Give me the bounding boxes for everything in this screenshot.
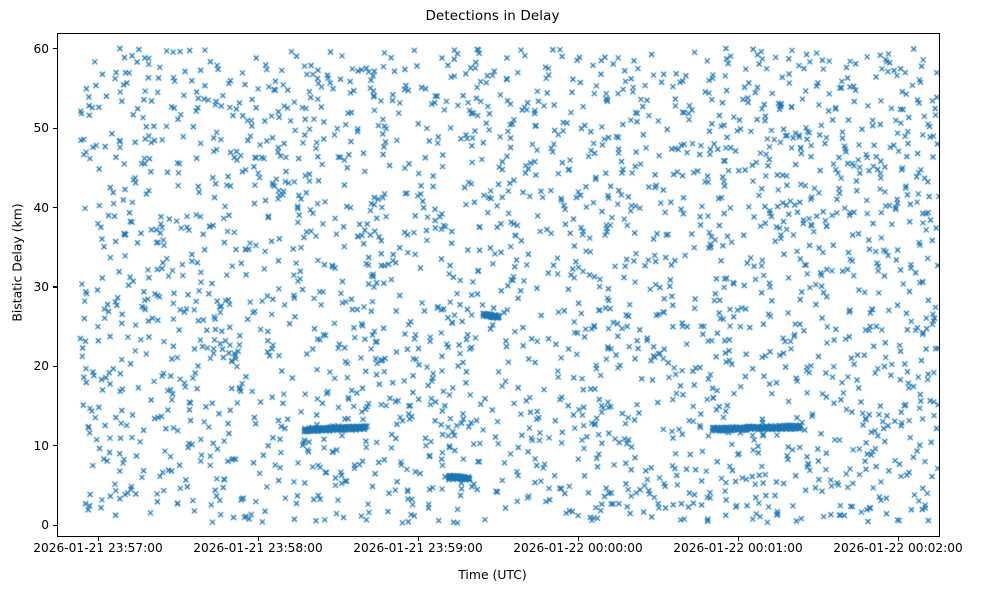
x-axis-tick-label: 2026-01-21 23:57:00	[0, 542, 198, 554]
x-axis-label: Time (UTC)	[0, 567, 985, 582]
x-axis-tick-mark	[258, 537, 259, 541]
y-axis-tick-label: 20	[13, 360, 49, 372]
y-axis-tick-label: 10	[13, 440, 49, 452]
y-axis-tick-label: 50	[13, 122, 49, 134]
y-axis-label: Bistatic Delay (km)	[10, 123, 25, 403]
x-axis-tick-mark	[98, 537, 99, 541]
x-axis-tick-label: 2026-01-22 00:01:00	[638, 542, 838, 554]
page-title: Detections in Delay	[0, 8, 985, 24]
x-axis-tick-mark	[418, 537, 419, 541]
x-axis-tick-label: 2026-01-22 00:00:00	[478, 542, 678, 554]
scatter-plot-canvas	[58, 34, 940, 537]
x-axis-tick-label: 2026-01-21 23:59:00	[318, 542, 518, 554]
x-axis-tick-label: 2026-01-22 00:02:00	[798, 542, 985, 554]
x-axis-tick-mark	[738, 537, 739, 541]
x-axis-tick-mark	[898, 537, 899, 541]
x-axis-tick-mark	[578, 537, 579, 541]
y-axis-tick-label: 30	[13, 281, 49, 293]
x-axis-tick-label: 2026-01-21 23:58:00	[158, 542, 358, 554]
plot-area	[57, 33, 940, 537]
y-axis-tick-label: 0	[13, 519, 49, 531]
y-axis-tick-label: 60	[13, 43, 49, 55]
matplotlib-figure: Detections in Delay Bistatic Delay (km) …	[0, 0, 985, 590]
y-axis-tick-label: 40	[13, 202, 49, 214]
